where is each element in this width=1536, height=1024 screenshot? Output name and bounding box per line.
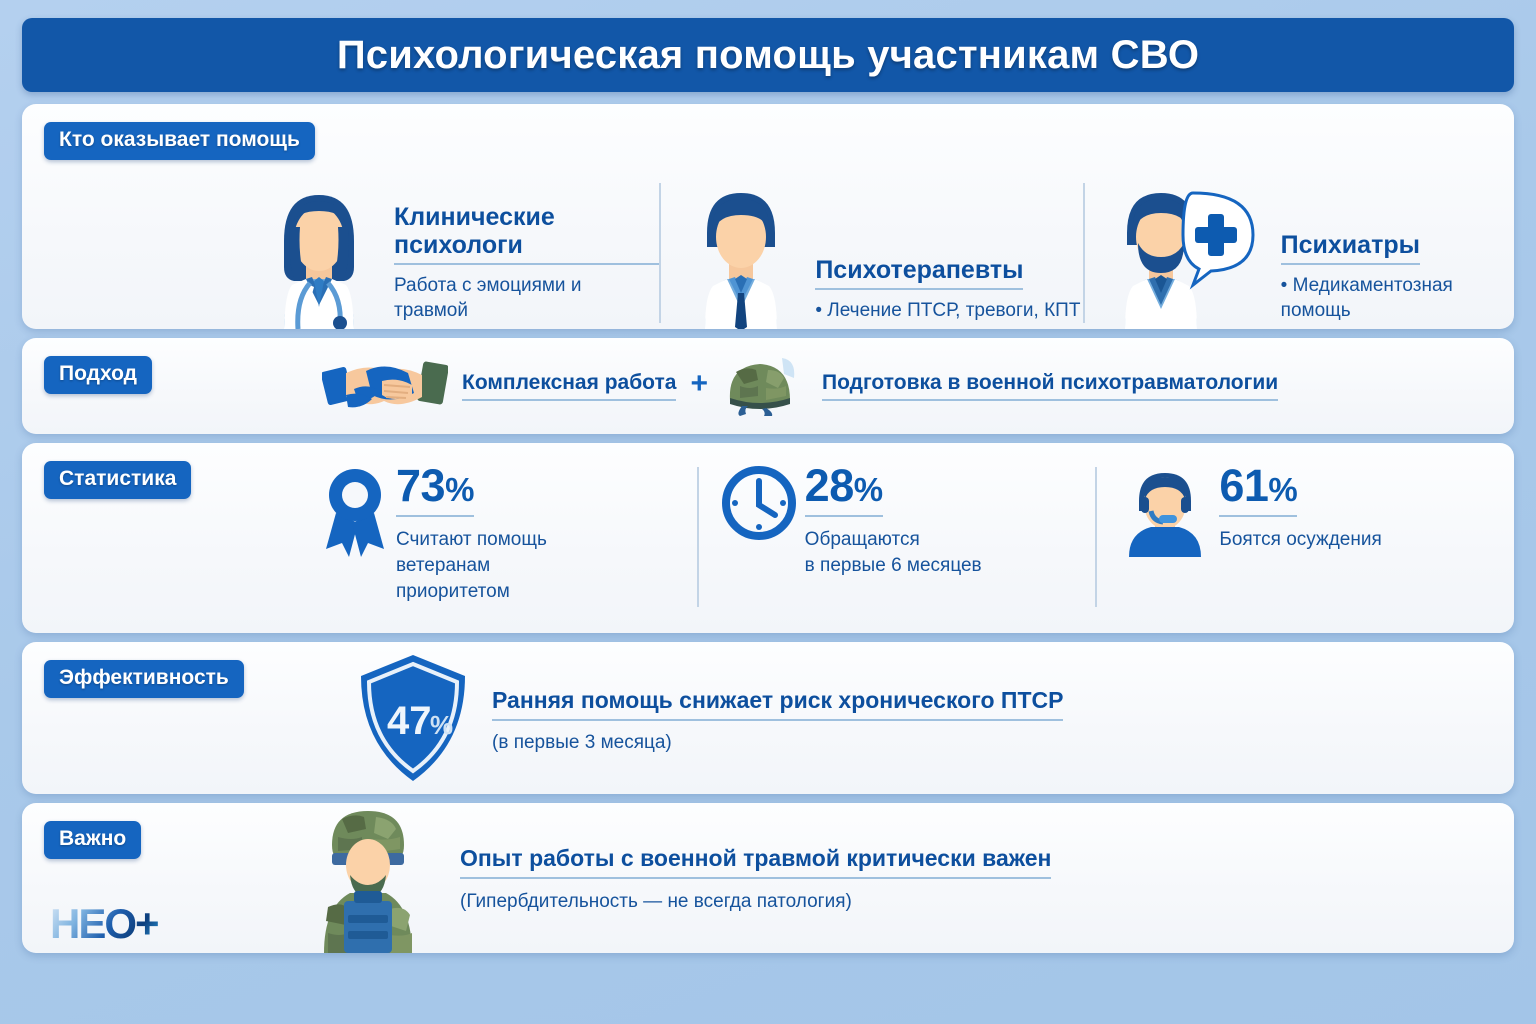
stat-unit: % [854, 471, 883, 508]
military-helmet-icon [722, 356, 808, 416]
approach-row: Комплексная работа + Подготовка в военно… [22, 338, 1514, 434]
badge-important: Важно [44, 821, 141, 859]
stat-number: 61 [1219, 460, 1268, 511]
provider-clinical-psychologists: Клинические психологи Работа с эмоциями … [236, 177, 659, 329]
stat-value: 61% [1219, 463, 1297, 517]
handshake-icon [322, 355, 448, 417]
stat-fear-judgement: 61% Боятся осуждения [1095, 463, 1494, 621]
provider-title: Клинические психологи [394, 203, 659, 265]
important-title: Опыт работы с военной травмой критически… [460, 845, 1051, 879]
provider-title: Психиатры [1281, 231, 1420, 265]
brand-logo-name: НЕО [50, 900, 135, 947]
important-row: Опыт работы с военной травмой критически… [22, 803, 1514, 953]
stat-number: 73 [396, 460, 445, 511]
important-subtitle: (Гипербдительность — не всегда патология… [460, 891, 1051, 913]
shield-unit-text: % [430, 710, 453, 740]
stat-value: 28% [805, 463, 883, 517]
efficiency-subtitle: (в первые 3 месяца) [492, 732, 1063, 754]
provider-title: Психотерапевты [815, 256, 1023, 290]
approach-right-text: Подготовка в военной психотравматологии [822, 371, 1278, 401]
section-important: Важно [22, 803, 1514, 953]
statistics-row: 73% Считают помощь ветеранам приоритетом… [22, 443, 1514, 633]
provider-psychotherapists: Психотерапевты • Лечение ПТСР, тревоги, … [659, 177, 1082, 329]
brand-logo-text: НЕО+ [50, 900, 158, 947]
female-clinical-psychologist-avatar [254, 181, 384, 329]
badge-efficiency: Эффективность [44, 660, 244, 698]
stat-first-six-months: 28% Обращаются в первые 6 месяцев [697, 463, 1096, 621]
provider-text: Психотерапевты • Лечение ПТСР, тревоги, … [805, 256, 1080, 329]
brand-logo: НЕО+ [50, 903, 158, 945]
provider-psychiatrists: Психиатры • Медикаментозная помощь [1083, 177, 1506, 329]
provider-desc: • Лечение ПТСР, тревоги, КПТ [815, 299, 1080, 323]
stat-label: Обращаются в первые 6 месяцев [805, 527, 982, 579]
title-banner: Психологическая помощь участникам СВО [22, 18, 1514, 92]
badge-statistics: Статистика [44, 461, 191, 499]
efficiency-title: Ранняя помощь снижает риск хронического … [492, 687, 1063, 721]
clock-icon [721, 465, 797, 541]
stat-body: 61% Боятся осуждения [1211, 463, 1381, 553]
provider-text: Клинические психологи Работа с эмоциями … [384, 203, 659, 329]
stat-unit: % [1268, 471, 1297, 508]
stat-unit: % [445, 471, 474, 508]
infographic-page: Психологическая помощь участникам СВО Кт… [0, 0, 1536, 1024]
provider-text: Психиатры • Медикаментозная помощь [1271, 231, 1506, 329]
stat-label: Боятся осуждения [1219, 527, 1381, 553]
male-psychotherapist-avatar [677, 181, 805, 329]
stat-label: Считают помощь ветеранам приоритетом [396, 527, 547, 604]
badge-providers: Кто оказывает помощь [44, 122, 315, 160]
stat-number: 28 [805, 460, 854, 511]
award-ribbon-icon [322, 465, 388, 559]
soldier-avatar [298, 803, 438, 953]
brand-logo-plus: + [135, 900, 158, 947]
provider-desc: Работа с эмоциями и травмой [394, 274, 659, 323]
stat-body: 28% Обращаются в первые 6 месяцев [797, 463, 982, 579]
section-providers: Кто оказывает помощь [22, 104, 1514, 329]
efficiency-row: 47 % Ранняя помощь снижает риск хроничес… [22, 642, 1514, 794]
page-title: Психологическая помощь участникам СВО [337, 33, 1199, 78]
stat-priority: 73% Считают помощь ветеранам приоритетом [298, 463, 697, 621]
section-approach: Подход Комплексная работа + [22, 338, 1514, 434]
shield-icon: 47 % [354, 652, 472, 784]
person-headset-icon [1119, 465, 1211, 557]
plus-icon: + [690, 369, 708, 403]
badge-approach: Подход [44, 356, 152, 394]
provider-desc-text: Лечение ПТСР, тревоги, КПТ [827, 300, 1080, 321]
efficiency-body: Ранняя помощь снижает риск хронического … [492, 683, 1063, 754]
section-statistics: Статистика 73% Считают помощь ветеранам … [22, 443, 1514, 633]
provider-desc-text: Медикаментозная помощь [1281, 275, 1453, 320]
bullet-dot: • [1281, 275, 1293, 296]
shield-value-text: 47 [387, 699, 432, 743]
bearded-psychiatrist-avatar [1101, 181, 1271, 329]
stat-body: 73% Считают помощь ветеранам приоритетом [388, 463, 547, 604]
stat-value: 73% [396, 463, 474, 517]
provider-desc: • Медикаментозная помощь [1281, 274, 1506, 323]
section-efficiency: Эффективность 47 % Ранняя помощь снижает… [22, 642, 1514, 794]
bullet-dot: • [815, 300, 827, 321]
approach-left-text: Комплексная работа [462, 371, 676, 401]
important-body: Опыт работы с военной травмой критически… [460, 843, 1051, 913]
